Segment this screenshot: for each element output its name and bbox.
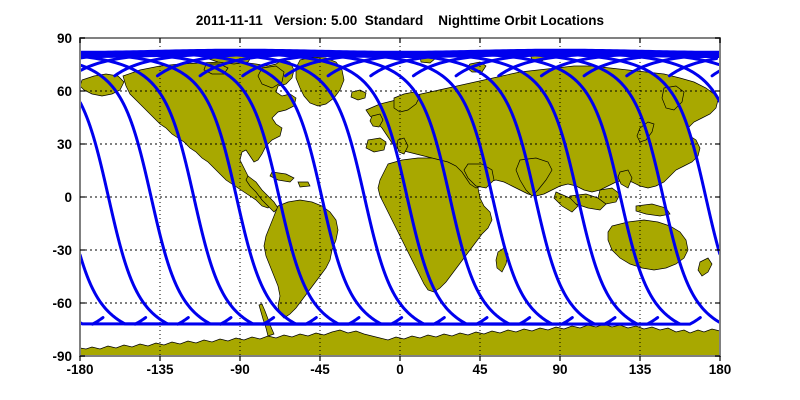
x-tick-label-90: 90 xyxy=(552,362,567,377)
y-tick-label--90: -90 xyxy=(52,349,72,364)
x-tick-label--180: -180 xyxy=(66,362,93,377)
x-tick-label-45: 45 xyxy=(472,362,488,377)
x-tick-label--90: -90 xyxy=(230,362,250,377)
y-tick-label--60: -60 xyxy=(52,296,72,311)
y-tick-label-30: 30 xyxy=(57,137,72,152)
y-tick-label-0: 0 xyxy=(64,190,72,205)
landmass-hispaniola xyxy=(298,182,310,187)
y-tick-label-60: 60 xyxy=(57,84,72,99)
x-tick-label-0: 0 xyxy=(396,362,404,377)
figure-canvas: 2011-11-11 Version: 5.00 Standard Nightt… xyxy=(0,0,800,400)
y-axis-tick-labels: -90-60-300306090 xyxy=(52,31,72,364)
x-tick-label-135: 135 xyxy=(629,362,652,377)
x-tick-label-180: 180 xyxy=(709,362,732,377)
x-axis-tick-labels: -180-135-90-4504590135180 xyxy=(66,362,731,377)
x-tick-label--135: -135 xyxy=(146,362,174,377)
orbit-map-chart: -180-135-90-4504590135180 -90-60-3003060… xyxy=(0,0,800,400)
x-tick-label--45: -45 xyxy=(310,362,330,377)
y-tick-label-90: 90 xyxy=(57,31,72,46)
y-tick-label--30: -30 xyxy=(52,243,72,258)
